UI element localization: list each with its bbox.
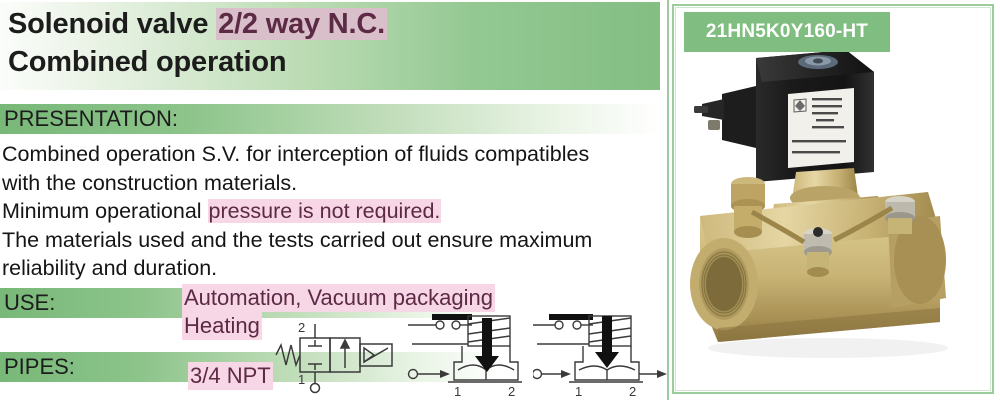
open-port-left-label: 1 (575, 384, 582, 399)
closed-port-left-label: 1 (454, 384, 461, 399)
product-photo-solenoid-valve (678, 36, 990, 388)
presentation-line-3: Minimum operational pressure is not requ… (2, 197, 662, 226)
presentation-line-4: The materials used and the tests carried… (2, 226, 662, 255)
title-highlight-text: 2/2 way N.C. (216, 8, 387, 40)
presentation-line-1: Combined operation S.V. for interception… (2, 140, 662, 169)
solenoid-coil (694, 50, 874, 182)
product-image-panel: 21HN5K0Y160-HT (672, 4, 994, 394)
symbol-port-top-label: 2 (298, 320, 305, 335)
presentation-line-3-plain: Minimum operational (2, 199, 208, 223)
valve-section-closed-icon: 1 2 (402, 312, 530, 405)
valve-schematic-symbol-icon: 2 1 (272, 318, 404, 403)
part-number-badge: 21HN5K0Y160-HT (684, 12, 890, 52)
datasheet-page: Solenoid valve 2/2 way N.C. Combined ope… (0, 0, 1000, 400)
symbol-port-bottom-label: 1 (298, 372, 305, 387)
closed-port-right-label: 2 (508, 384, 515, 399)
pipes-value: 3/4 NPT (188, 362, 273, 390)
page-title-line-1: Solenoid valve 2/2 way N.C. (0, 2, 660, 41)
use-value-line-2: Heating (182, 312, 262, 340)
presentation-line-3-highlight: pressure is not required. (208, 199, 442, 223)
title-plain-text: Solenoid valve (8, 8, 216, 40)
presentation-line-5: reliability and duration. (2, 254, 662, 283)
presentation-line-2: with the construction materials. (2, 169, 662, 198)
presentation-label-text: PRESENTATION: (0, 104, 660, 134)
use-value-line-1: Automation, Vacuum packaging (182, 284, 495, 312)
coil-spec-label (788, 88, 854, 168)
page-title-line-2: Combined operation (0, 41, 660, 79)
valve-section-open-icon: 1 2 (533, 312, 667, 405)
left-content-column: Solenoid valve 2/2 way N.C. Combined ope… (0, 0, 666, 400)
column-divider (667, 0, 669, 400)
product-title-band: Solenoid valve 2/2 way N.C. Combined ope… (0, 2, 660, 90)
open-port-right-label: 2 (629, 384, 636, 399)
presentation-body-text: Combined operation S.V. for interception… (2, 140, 662, 283)
part-number-text: 21HN5K0Y160-HT (684, 12, 890, 52)
section-label-presentation: PRESENTATION: (0, 104, 660, 134)
